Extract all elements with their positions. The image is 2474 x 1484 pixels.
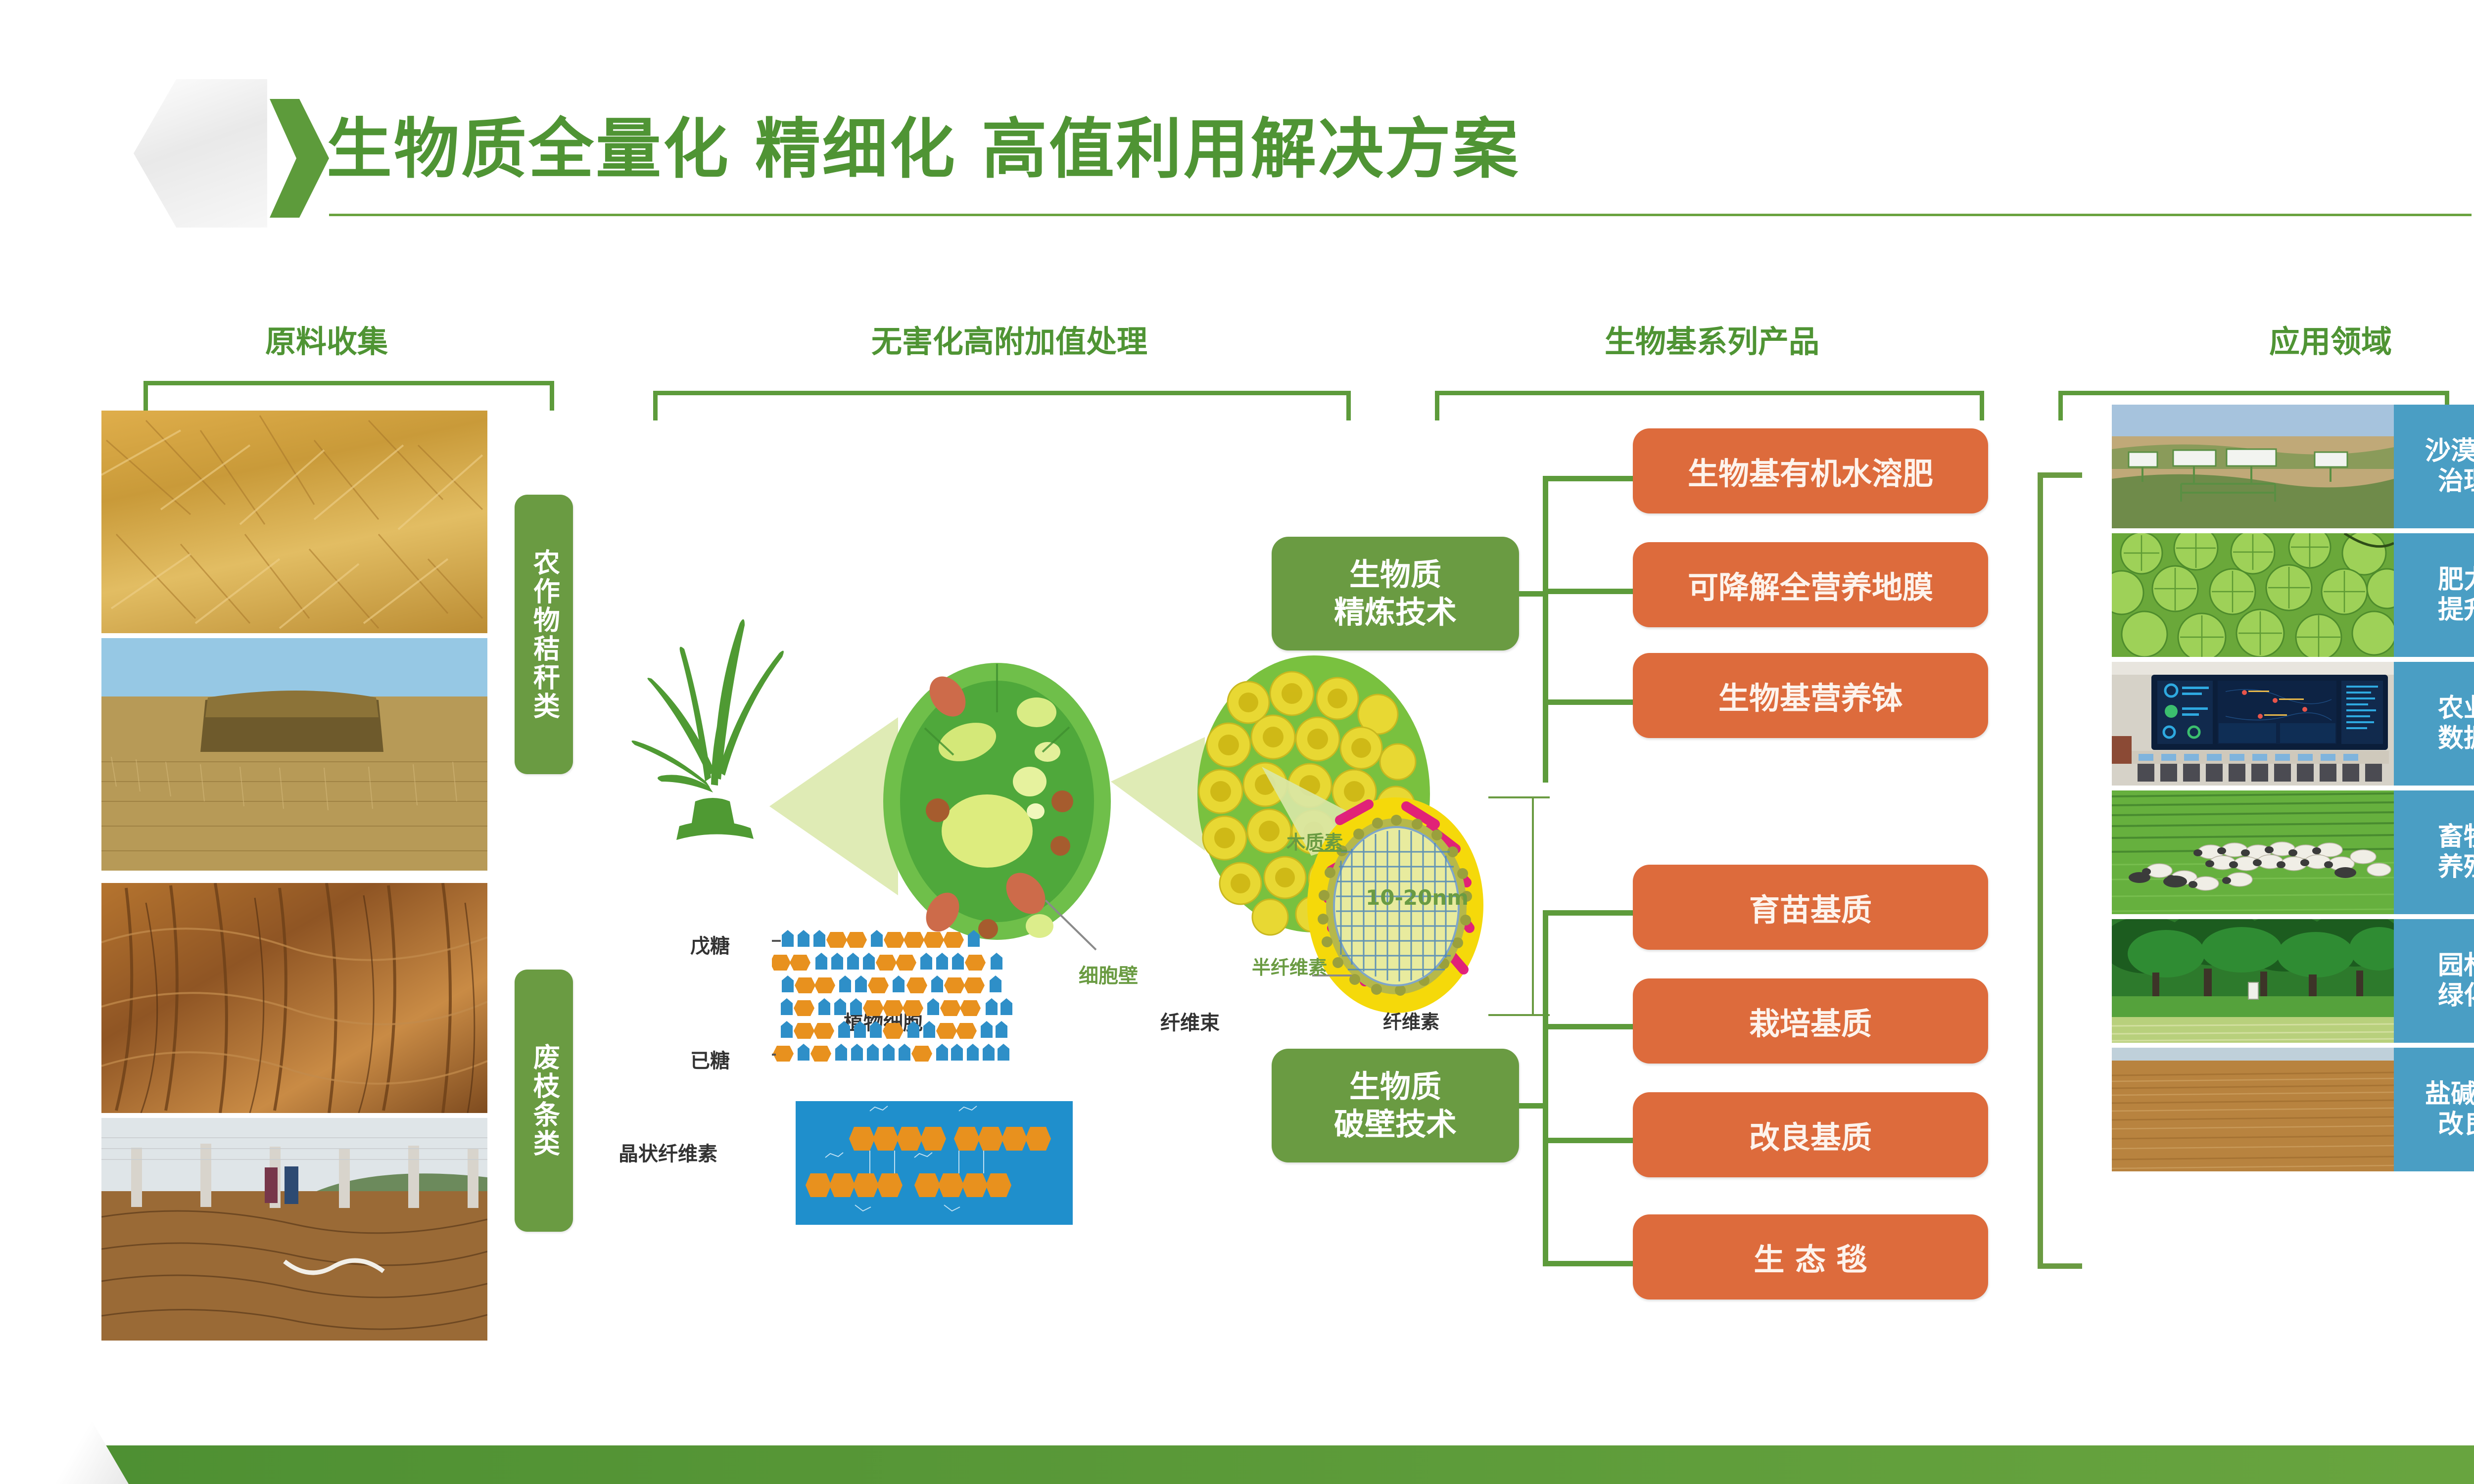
connector-branch-wb-1 bbox=[1543, 910, 1642, 916]
section-header-applications: 应用领域 bbox=[2118, 317, 2474, 361]
connector-branch-refining-1 bbox=[1543, 476, 1642, 481]
tech-box-line2: 破壁技术 bbox=[1334, 1106, 1457, 1143]
label-cellulose: 纤维素 bbox=[1383, 1007, 1439, 1034]
application-box-agricultural-data[interactable]: 农业 数据 bbox=[2394, 662, 2474, 786]
connector-branch-refining-2 bbox=[1543, 589, 1642, 594]
product-label: 栽培基质 bbox=[1749, 999, 1872, 1043]
connector-trunk-wallbreaking bbox=[1543, 910, 1548, 1266]
product-label: 育苗基质 bbox=[1749, 885, 1872, 929]
chevron-right-icon bbox=[270, 99, 329, 218]
product-box-improved-substrate[interactable]: 改良基质 bbox=[1633, 1092, 1988, 1177]
section-header-processing: 无害化高附加值处理 bbox=[722, 317, 1296, 361]
product-box-biodegradable-mulch-film[interactable]: 可降解全营养地膜 bbox=[1633, 542, 1988, 627]
cabbage-field-photo bbox=[2112, 533, 2394, 657]
grass-plant-icon bbox=[631, 619, 783, 840]
tech-box-line2: 精炼技术 bbox=[1334, 594, 1457, 631]
connector-stem-wallbreaking bbox=[1519, 1103, 1545, 1109]
application-box-desertification-control[interactable]: 沙漠化 治理 bbox=[2394, 405, 2474, 528]
application-label-line2: 数据 bbox=[2438, 724, 2474, 754]
feedstock-tag-label: 农作物秸秆类 bbox=[530, 549, 558, 721]
connector-stem-refining bbox=[1519, 591, 1545, 597]
connector-branch-wb-2 bbox=[1543, 1024, 1642, 1029]
infographic-slide: 生物质全量化 精细化 高值利用解决方案 原料收集 无害化高附加值处理 生物基系列… bbox=[0, 0, 2474, 1484]
label-hexose: 已糖 bbox=[690, 1045, 730, 1073]
application-box-fertility-improvement[interactable]: 肥力 提升 bbox=[2394, 533, 2474, 657]
application-box-landscape-greening[interactable]: 园林 绿化 bbox=[2394, 919, 2474, 1043]
application-label-line2: 养殖 bbox=[2438, 852, 2474, 882]
application-box-saline-alkali-improvement[interactable]: 盐碱地 改良 bbox=[2394, 1048, 2474, 1171]
product-label: 生物基营养钵 bbox=[1718, 673, 1903, 718]
page-title: 生物质全量化 精细化 高值利用解决方案 bbox=[327, 96, 1520, 191]
product-label: 生 态 毯 bbox=[1754, 1235, 1867, 1279]
feedstock-tag-waste-branch[interactable]: 废枝条类 bbox=[515, 970, 573, 1232]
section-bracket-processing bbox=[653, 391, 1351, 420]
product-label: 生物基有机水溶肥 bbox=[1688, 449, 1933, 493]
product-label: 改良基质 bbox=[1749, 1113, 1872, 1157]
grazing-sheep-photo bbox=[2112, 790, 2394, 914]
corn-stover-pile-photo bbox=[101, 411, 487, 633]
connector-branch-wb-3 bbox=[1543, 1138, 1642, 1143]
footer-bar bbox=[0, 1445, 2474, 1484]
pruned-vineyard-photo bbox=[101, 1118, 487, 1341]
connector-branch-refining-3 bbox=[1543, 699, 1642, 705]
application-label-line1: 农业 bbox=[2438, 694, 2474, 724]
section-header-products: 生物基系列产品 bbox=[1435, 317, 1989, 361]
desert-control-photo bbox=[2112, 405, 2394, 528]
crystalline-cellulose-panel bbox=[796, 1101, 1073, 1225]
application-label-line2: 提升 bbox=[2438, 595, 2474, 625]
hexagon-decoration-icon bbox=[134, 79, 267, 228]
product-box-seedling-substrate[interactable]: 育苗基质 bbox=[1633, 865, 1988, 950]
title-underline-divider bbox=[329, 214, 2472, 216]
application-label-line1: 畜牧 bbox=[2438, 822, 2474, 852]
label-fiber-bundle: 纤维束 bbox=[1160, 1007, 1220, 1035]
connector-branch-wb-4 bbox=[1543, 1261, 1642, 1266]
application-label-line1: 园林 bbox=[2438, 951, 2474, 981]
saline-soil-photo bbox=[2112, 1048, 2394, 1171]
section-bracket-products bbox=[1435, 391, 1984, 420]
label-crystalline-cellulose: 晶状纤维素 bbox=[618, 1138, 717, 1166]
application-label-line1: 沙漠化 bbox=[2425, 436, 2474, 466]
park-trees-photo bbox=[2112, 919, 2394, 1043]
plant-cell-illustration bbox=[883, 663, 1111, 940]
application-label-line2: 绿化 bbox=[2438, 981, 2474, 1011]
section-bracket-collection bbox=[143, 381, 554, 411]
label-pentose: 戊糖 bbox=[690, 930, 730, 959]
label-fiber-dimension: 10-20nm bbox=[1366, 885, 1469, 910]
sugar-chain-diagram bbox=[772, 930, 1108, 1128]
product-box-cultivation-substrate[interactable]: 栽培基质 bbox=[1633, 978, 1988, 1064]
application-box-livestock-breeding[interactable]: 畜牧 养殖 bbox=[2394, 790, 2474, 914]
product-box-ecological-blanket[interactable]: 生 态 毯 bbox=[1633, 1214, 1988, 1299]
application-label-line2: 改良 bbox=[2438, 1110, 2474, 1140]
product-box-water-soluble-fertilizer[interactable]: 生物基有机水溶肥 bbox=[1633, 428, 1988, 513]
tech-box-biomass-wall-breaking[interactable]: 生物质 破壁技术 bbox=[1272, 1049, 1519, 1162]
product-label: 可降解全营养地膜 bbox=[1688, 562, 1933, 607]
tech-box-line1: 生物质 bbox=[1349, 556, 1441, 594]
label-hemicellulose: 半纤维素 bbox=[1252, 952, 1327, 979]
application-label-line1: 肥力 bbox=[2438, 565, 2474, 595]
footer-corner-left-decoration bbox=[0, 1385, 129, 1484]
feedstock-tag-label: 废枝条类 bbox=[530, 1043, 558, 1158]
application-label-line1: 盐碱地 bbox=[2425, 1079, 2474, 1110]
dry-branches-photo bbox=[101, 883, 487, 1113]
data-control-room-photo bbox=[2112, 662, 2394, 786]
connector-trunk-refining-main bbox=[1543, 476, 1548, 705]
products-to-applications-bracket bbox=[2038, 472, 2082, 1269]
feedstock-tag-crop-straw[interactable]: 农作物秸秆类 bbox=[515, 495, 573, 774]
tech-box-line1: 生物质 bbox=[1349, 1068, 1441, 1106]
label-lignin: 木质素 bbox=[1286, 827, 1343, 854]
product-box-nutrient-pot[interactable]: 生物基营养钵 bbox=[1633, 653, 1988, 738]
section-header-collection: 原料收集 bbox=[188, 317, 465, 361]
baled-straw-field-photo bbox=[101, 638, 487, 871]
tech-box-biomass-refining[interactable]: 生物质 精炼技术 bbox=[1272, 537, 1519, 650]
application-label-line2: 治理 bbox=[2438, 466, 2474, 497]
